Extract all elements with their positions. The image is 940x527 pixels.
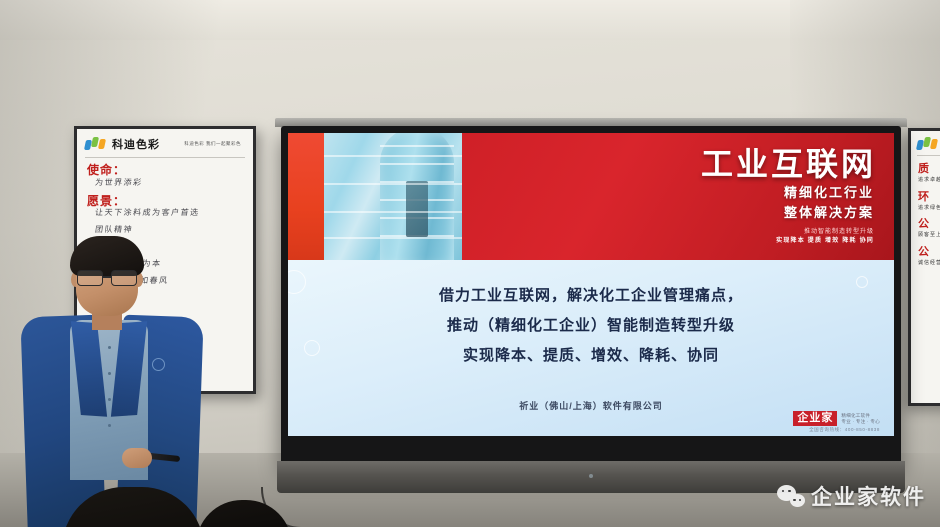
brand-name: 企业家 — [793, 411, 837, 426]
slide-subtitle-line2: 整体解决方案 — [784, 203, 874, 223]
poster-right-item-0: 质 追求卓越品质 — [911, 160, 940, 188]
hero-building-photo — [324, 133, 462, 260]
slide-fine-line2: 实现降本 提质 增效 降耗 协同 — [776, 237, 874, 246]
slide-body-line-0: 借力工业互联网，解决化工企业管理痛点， — [288, 280, 894, 310]
wechat-icon — [777, 485, 805, 507]
slide-fine-print: 推动智能制造转型升级 实现降本 提质 增效 降耗 协同 — [776, 228, 874, 246]
slide-fine-line1: 推动智能制造转型升级 — [776, 228, 874, 237]
poster-right-item-2: 公 顾客至上 服务第一 — [911, 215, 940, 243]
presenter — [24, 236, 200, 527]
poster-right-key-2: 公 — [918, 215, 940, 231]
poster-right-sub-2: 顾客至上 服务第一 — [918, 232, 940, 239]
display-bezel: 工业互联网 精细化工行业 整体解决方案 推动智能制造转型升级 实现降本 提质 增… — [281, 126, 901, 465]
power-led-icon — [589, 474, 593, 478]
presentation-slide: 工业互联网 精细化工行业 整体解决方案 推动智能制造转型升级 实现降本 提质 增… — [288, 133, 894, 436]
poster-right-key-3: 公 — [918, 243, 940, 259]
poster-right-item-1: 环 追求绿色环保 — [911, 188, 940, 216]
poster-left-extra-0: 团队精神 — [94, 225, 243, 235]
tower-reflection — [406, 181, 428, 237]
watermark-text: 企业家软件 — [811, 481, 926, 511]
kedi-logo-icon-right — [917, 137, 939, 151]
slide-body-line-1: 推动（精细化工企业）智能制造转型升级 — [288, 310, 894, 340]
poster-right-key-1: 环 — [918, 188, 940, 204]
brand-tagline: 精细化工软件 专业 · 专注 · 专心 — [841, 413, 880, 425]
brand-tagline-line2: 专业 · 专注 · 专心 — [841, 419, 880, 424]
kedi-logo-icon — [85, 137, 107, 151]
display-screen[interactable]: 工业互联网 精细化工行业 整体解决方案 推动智能制造转型升级 实现降本 提质 增… — [288, 133, 894, 436]
slide-company-footer: 祈业（佛山/上海）软件有限公司 — [288, 399, 894, 412]
poster-right-key-0: 质 — [918, 160, 940, 176]
hero-accent-bar — [288, 133, 324, 260]
brand-phone: 全国咨询热线：400-850-8838 — [809, 427, 880, 433]
poster-left-key-0: 使命： — [87, 164, 243, 177]
slide-subtitle: 精细化工行业 整体解决方案 — [784, 183, 874, 223]
slide-hero: 工业互联网 精细化工行业 整体解决方案 推动智能制造转型升级 实现降本 提质 增… — [288, 133, 894, 260]
slide-body-line-2: 实现降本、提质、增效、降耗、协同 — [288, 340, 894, 370]
poster-right-header — [911, 131, 940, 153]
conference-room-scene: 科迪色彩 科迪色彩 我们一起聚彩色 使命： 为世界添彩 愿景： 让天下涂料成为客… — [0, 0, 940, 527]
poster-left-text-1: 让天下涂料成为客户首选 — [94, 208, 243, 218]
slide-body: 借力工业互联网，解决化工企业管理痛点， 推动（精细化工企业）智能制造转型升级 实… — [288, 260, 894, 436]
brand-tagline-line1: 精细化工软件 — [841, 413, 870, 418]
poster-right-sub-3: 诚信经营 客户满意 — [918, 260, 940, 267]
presenter-hand — [122, 448, 152, 468]
wall-poster-right: 质 追求卓越品质 环 追求绿色环保 公 顾客至上 服务第一 公 诚信经营 客户满… — [908, 128, 940, 406]
interactive-display[interactable]: 工业互联网 精细化工行业 整体解决方案 推动智能制造转型升级 实现降本 提质 增… — [281, 126, 901, 465]
slide-title: 工业互联网 — [701, 139, 876, 185]
presenter-glasses-icon — [76, 270, 138, 284]
poster-left-text-0: 为世界添彩 — [94, 178, 243, 188]
poster-left-key-1: 愿景： — [87, 195, 243, 208]
poster-right-item-3: 公 诚信经营 客户满意 — [911, 243, 940, 271]
poster-left-header: 科迪色彩 科迪色彩 我们一起聚彩色 — [77, 129, 253, 155]
brand-badge: 企业家 精细化工软件 专业 · 专注 · 专心 — [793, 411, 880, 426]
presenter-jacket-emblem — [152, 358, 165, 371]
slide-subtitle-line1: 精细化工行业 — [784, 183, 874, 203]
poster-left-tagline: 科迪色彩 我们一起聚彩色 — [184, 141, 245, 147]
slide-body-text: 借力工业互联网，解决化工企业管理痛点， 推动（精细化工企业）智能制造转型升级 实… — [288, 280, 894, 370]
hero-red-panel: 工业互联网 精细化工行业 整体解决方案 推动智能制造转型升级 实现降本 提质 增… — [462, 133, 894, 260]
poster-right-sub-0: 追求卓越品质 — [918, 177, 940, 184]
poster-left-brand: 科迪色彩 — [112, 136, 160, 152]
watermark: 企业家软件 — [777, 481, 926, 511]
poster-right-sub-1: 追求绿色环保 — [918, 205, 940, 212]
poster-right-divider — [917, 155, 940, 156]
